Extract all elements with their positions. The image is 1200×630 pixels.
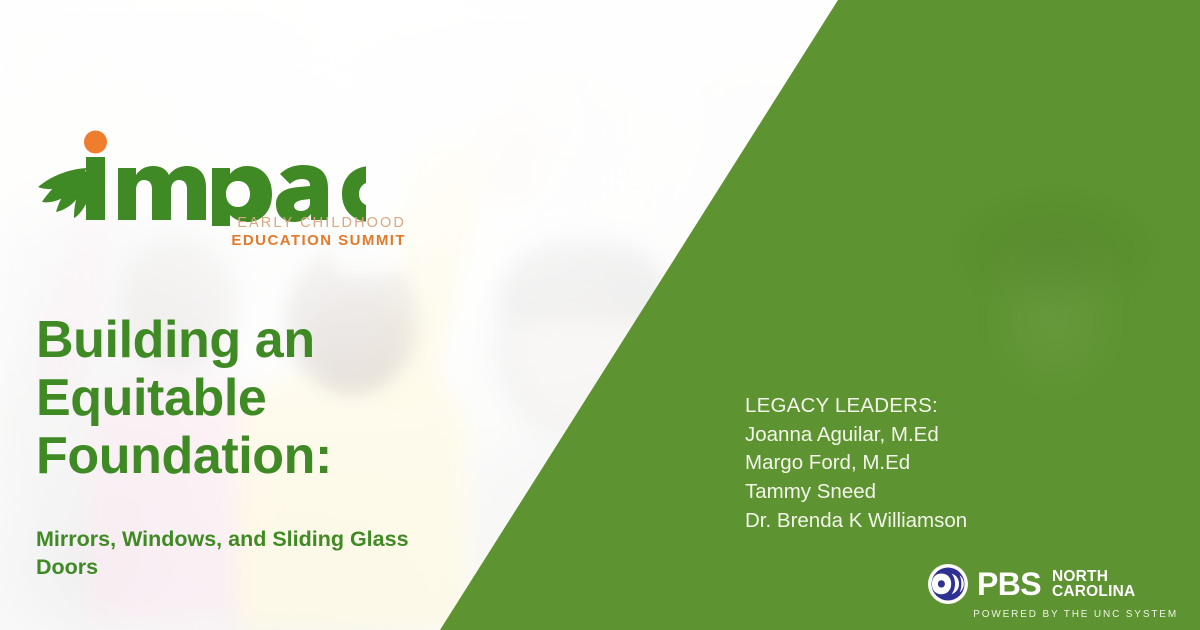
presentation-slide: EARLY CHILDHOOD EDUCATION SUMMIT Buildin… <box>0 0 1200 630</box>
presenter-name: Margo Ford, M.Ed <box>745 449 1175 478</box>
slide-title-line2: Equitable <box>36 370 436 428</box>
slide-title: Building an Equitable Foundation: <box>36 312 436 486</box>
impact-tagline-line2: EDUCATION SUMMIT <box>226 232 406 251</box>
pbs-state-line2: CAROLINA <box>1052 584 1135 600</box>
pbs-north-carolina-logo: PBS NORTH CAROLINA POWERED BY THE UNC SY… <box>928 564 1178 622</box>
pbs-state-line1: NORTH <box>1052 569 1135 585</box>
impact-logo: EARLY CHILDHOOD EDUCATION SUMMIT <box>36 130 366 255</box>
slide-title-line3: Foundation: <box>36 428 436 486</box>
orange-dot <box>84 131 107 154</box>
impact-tagline-line1: EARLY CHILDHOOD <box>226 214 406 232</box>
pbs-head-circle-icon <box>928 564 968 604</box>
pbs-wordmark: PBS <box>977 568 1041 600</box>
slide-subtitle: Mirrors, Windows, and Sliding Glass Door… <box>36 526 416 581</box>
presenters-block: LEGACY LEADERS: Joanna Aguilar, M.Ed Mar… <box>745 392 1175 535</box>
pbs-logo-row: PBS NORTH CAROLINA <box>928 564 1178 604</box>
presenter-name: Joanna Aguilar, M.Ed <box>745 421 1175 450</box>
slide-title-line1: Building an <box>36 312 436 370</box>
impact-tagline: EARLY CHILDHOOD EDUCATION SUMMIT <box>226 214 406 251</box>
pbs-state-name: NORTH CAROLINA <box>1052 569 1135 600</box>
presenters-heading: LEGACY LEADERS: <box>745 392 1175 421</box>
pbs-tagline: POWERED BY THE UNC SYSTEM <box>928 609 1178 620</box>
presenter-name: Tammy Sneed <box>745 478 1175 507</box>
presenter-name: Dr. Brenda K Williamson <box>745 507 1175 536</box>
impact-wordmark-icon <box>36 130 366 226</box>
